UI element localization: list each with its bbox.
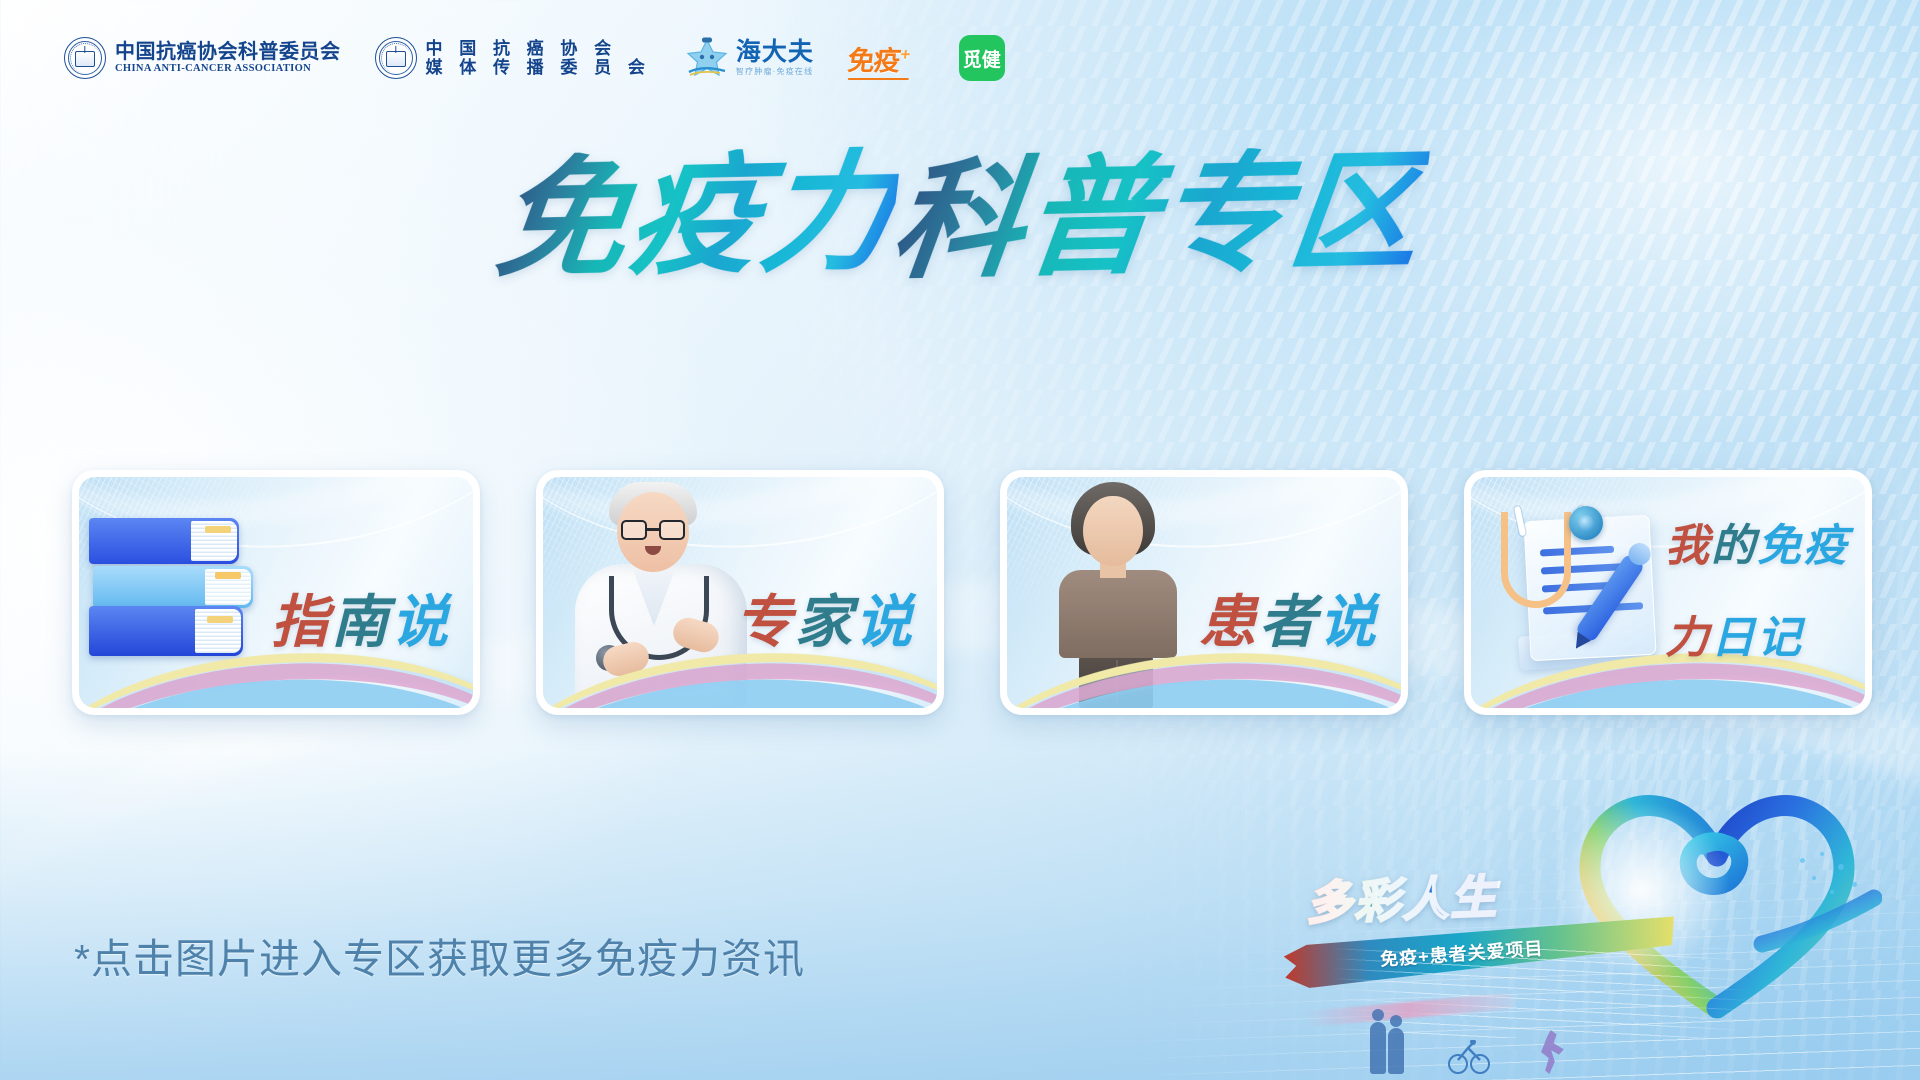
logo-china-anti-cancer-media-committee: 中 国 抗 癌 协 会 媒 体 传 播 委 员 会: [375, 37, 651, 79]
click-hint-note: *点击图片进入专区获取更多免疫力资讯: [74, 925, 805, 985]
page-title: 免疫力科普专区: [0, 150, 1920, 283]
card-label-char: 说: [391, 589, 451, 656]
seal-emblem-icon: [375, 37, 417, 79]
card-my-immunity-diary[interactable]: 我的免疫 力日记: [1464, 470, 1872, 715]
haidaifu-tagline: 智疗肿瘤·免疫在线: [736, 68, 814, 76]
immunity-plus-logo: 免疫+: [846, 39, 927, 78]
card-label-char: 的: [1711, 521, 1757, 572]
people-silhouettes-icon: [1370, 996, 1630, 1074]
card-label: 专家说: [735, 533, 915, 652]
campaign-title: 多彩人生: [1305, 861, 1499, 934]
card-patient-says[interactable]: 患者说: [1000, 470, 1408, 715]
card-label-char: 家: [795, 589, 855, 656]
card-label-char: 患: [1199, 589, 1259, 656]
card-label: 我的免疫 力日记: [1665, 478, 1849, 707]
card-label-char: 南: [331, 589, 391, 656]
logo-china-anti-cancer-science-committee: 中国抗癌协会科普委员会 CHINA ANTI-CANCER ASSOCIATIO…: [64, 37, 341, 79]
title-part-immunity: 免疫力: [490, 146, 903, 287]
title-part-science-zone: 科普专区: [885, 144, 1430, 288]
logo-cn-line1: 中 国 抗 癌 协 会: [426, 39, 651, 58]
logo-haidaifu: 海大夫 智疗肿瘤·免疫在线: [685, 36, 814, 80]
card-label-char: 指: [271, 589, 331, 656]
plus-glyph: +: [899, 45, 910, 64]
mijian-name: 觅健: [963, 45, 1001, 72]
mijian-app-icon: 觅健: [959, 35, 1005, 81]
seal-emblem-icon: [64, 37, 106, 79]
logo-cn-line2: 媒 体 传 播 委 员 会: [426, 58, 651, 77]
logo-en-name: CHINA ANTI-CANCER ASSOCIATION: [115, 63, 341, 75]
card-expert-says[interactable]: 专家说: [536, 470, 944, 715]
card-guideline-says[interactable]: 指南说: [72, 470, 480, 715]
immunity-plus-name: 免疫: [846, 46, 901, 76]
sparkle-dots-icon: [1794, 850, 1874, 910]
partner-logo-bar: 中国抗癌协会科普委员会 CHINA ANTI-CANCER ASSOCIATIO…: [64, 35, 1005, 81]
haidaifu-name: 海大夫: [736, 40, 814, 65]
card-label-char: 说: [1319, 589, 1379, 656]
card-label: 患者说: [1199, 533, 1379, 652]
card-label-char: 专: [735, 589, 795, 656]
star-mascot-icon: [685, 36, 729, 80]
campaign-emblem: 多彩人生 免疫+患者关爱项目: [1266, 750, 1906, 1080]
card-label-char: 者: [1259, 589, 1319, 656]
card-label-char: 免疫: [1757, 521, 1849, 572]
card-grid: 指南说 专家说: [72, 470, 1872, 715]
card-label-char: 力: [1665, 612, 1711, 663]
card-label-char: 日记: [1711, 612, 1803, 663]
card-label-char: 说: [855, 589, 915, 656]
logo-cn-name: 中国抗癌协会科普委员会: [115, 41, 341, 63]
card-label-char: 我: [1665, 521, 1711, 572]
card-label: 指南说: [271, 533, 451, 652]
